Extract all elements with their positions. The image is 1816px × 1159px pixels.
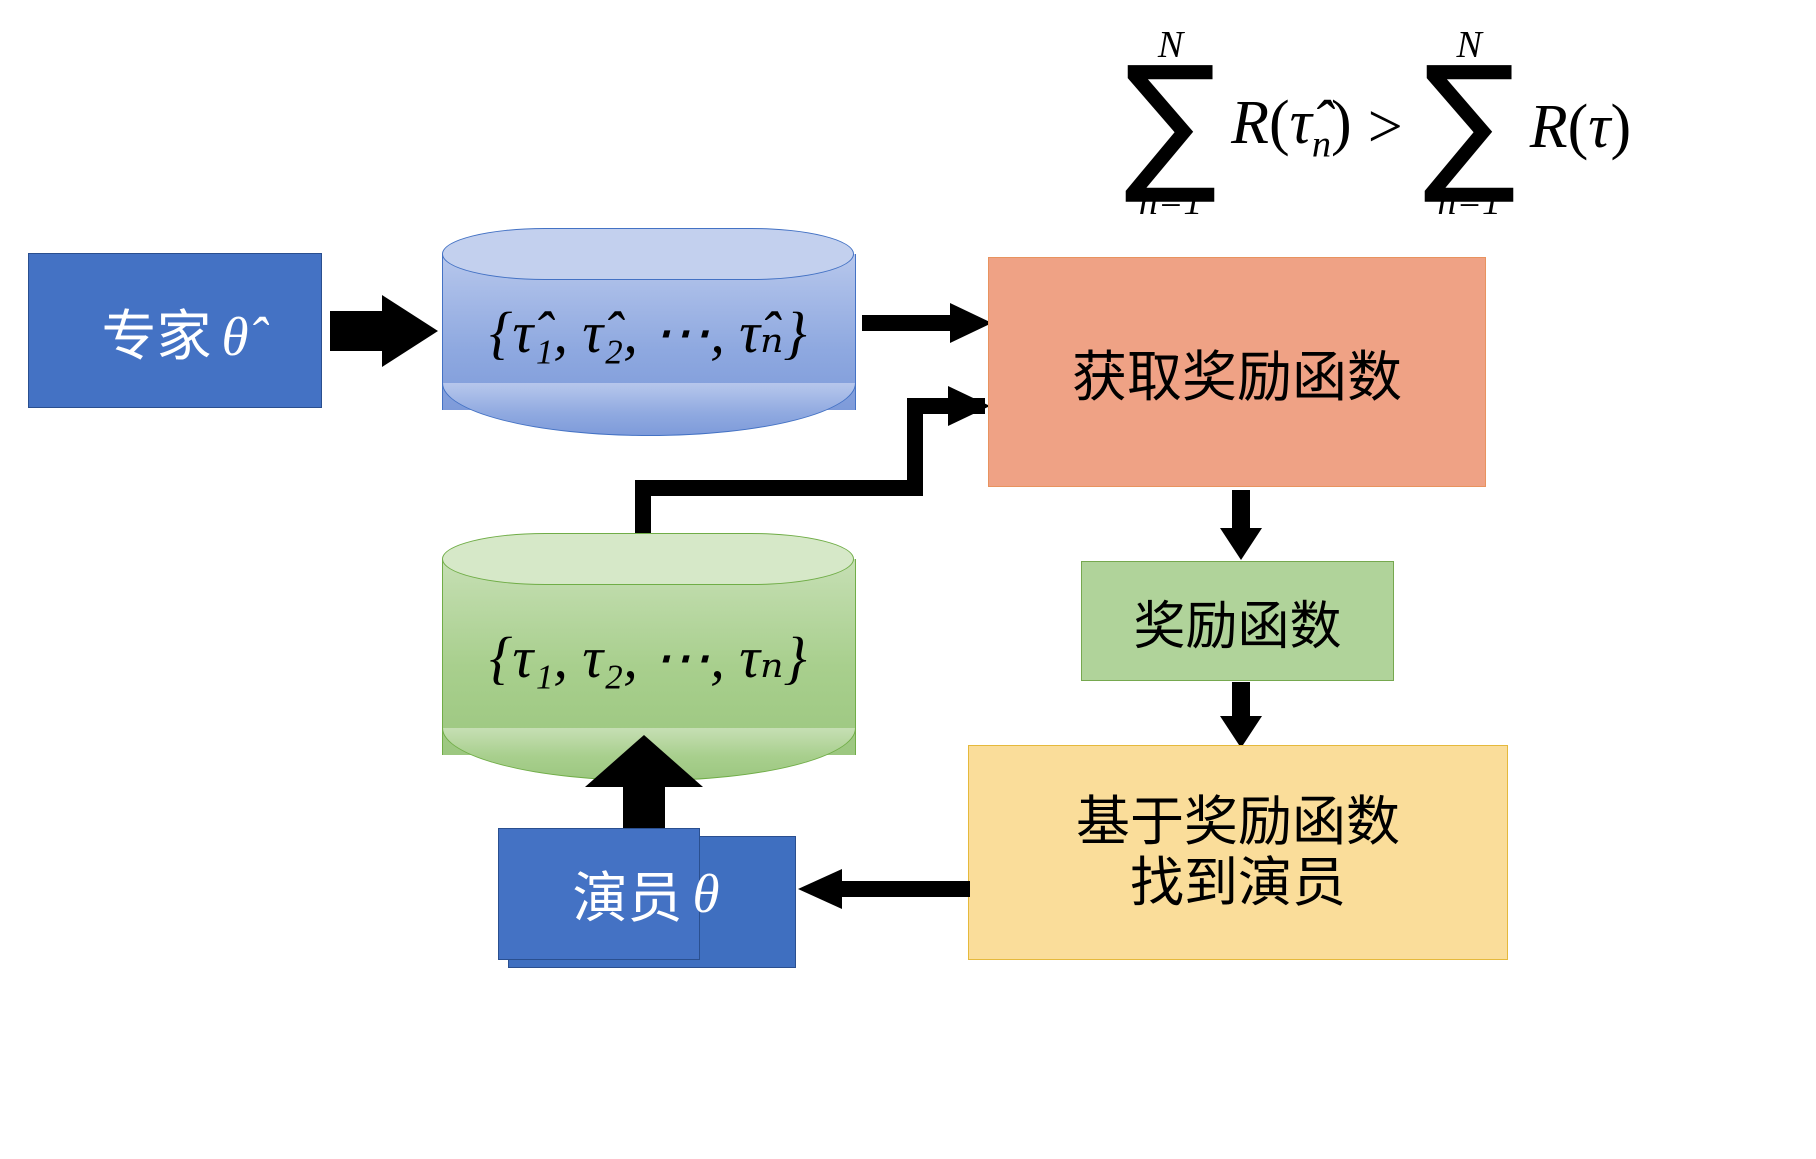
expert-label-text: 专家 <box>101 291 211 371</box>
right-summation: N ∑ n=1 <box>1419 26 1520 221</box>
expert-trajectories-label: {τ̂₁, τ̂₂, ⋯, τ̂ₙ} <box>442 228 854 436</box>
arrow-shaft <box>330 311 386 351</box>
left-reward-term: R(τ̂n) <box>1231 88 1352 166</box>
right-sum-sigma-icon: ∑ <box>1423 64 1516 181</box>
arrow-shaft <box>1232 682 1250 720</box>
find-actor-label-line1: 基于奖励函数 <box>1076 790 1400 853</box>
arrow-get-reward-to-reward-function <box>1220 490 1260 560</box>
right-paren-close: ) <box>1610 93 1631 161</box>
arrow-shaft <box>862 315 954 331</box>
find-actor-label-line2: 找到演员 <box>1130 851 1346 914</box>
arrow-find-actor-to-actor <box>798 869 970 909</box>
arrow-head-icon <box>798 869 842 909</box>
objective-formula: N ∑ n=1 R(τ̂n) > N ∑ n=1 R(τ) <box>1120 18 1780 228</box>
left-summation: N ∑ n=1 <box>1120 26 1221 221</box>
arrow-expert-to-trajectories <box>330 295 438 367</box>
arrow-shaft <box>1232 490 1250 532</box>
expert-node[interactable]: 专家 θ̂ <box>28 253 322 408</box>
reward-function-label: 奖励函数 <box>1133 584 1341 659</box>
arrow-reward-function-to-find-actor <box>1220 682 1260 748</box>
get-reward-function-label: 获取奖励函数 <box>1072 332 1402 412</box>
arrow-head-icon <box>1220 528 1262 560</box>
expert-label: 专家 θ̂ <box>101 291 248 371</box>
left-sum-sigma-icon: ∑ <box>1124 64 1217 181</box>
connector-segment-horizontal-1 <box>635 480 923 496</box>
find-actor-node[interactable]: 基于奖励函数 找到演员 <box>968 745 1508 960</box>
expert-theta-hat: θ̂ <box>221 305 248 368</box>
left-tau-hat: τ̂ <box>1290 89 1312 157</box>
right-reward-term: R(τ) <box>1530 92 1631 163</box>
expert-trajectories-store[interactable]: {τ̂₁, τ̂₂, ⋯, τ̂ₙ} <box>442 228 854 436</box>
left-reward-R: R <box>1231 89 1269 157</box>
actor-node[interactable]: 演员 θ <box>498 828 794 966</box>
right-tau: τ <box>1588 93 1610 161</box>
arrow-head-icon <box>948 386 990 426</box>
left-paren-open: ( <box>1269 89 1290 157</box>
arrow-head-icon <box>950 303 992 343</box>
arrow-expert-trajectories-to-get-reward <box>862 303 992 343</box>
right-reward-R: R <box>1530 93 1568 161</box>
left-tau-subscript: n <box>1312 123 1331 165</box>
arrow-actor-to-actor-trajectories <box>585 735 703 841</box>
left-paren-close: ) <box>1331 89 1352 157</box>
arrow-shaft <box>840 881 970 897</box>
diagram-canvas: N ∑ n=1 R(τ̂n) > N ∑ n=1 R(τ) 专家 θ̂ {τ <box>0 0 1816 1159</box>
right-paren-open: ( <box>1568 93 1589 161</box>
actor-label: 演员 θ <box>498 828 794 958</box>
actor-label-text: 演员 <box>572 853 682 933</box>
get-reward-function-node[interactable]: 获取奖励函数 <box>988 257 1486 487</box>
find-actor-label: 基于奖励函数 找到演员 <box>1076 792 1400 913</box>
arrow-head-icon <box>1220 716 1262 748</box>
actor-theta: θ <box>692 862 719 925</box>
greater-than-sign: > <box>1368 92 1403 163</box>
reward-function-node[interactable]: 奖励函数 <box>1081 561 1394 681</box>
arrow-head-icon <box>382 295 438 367</box>
